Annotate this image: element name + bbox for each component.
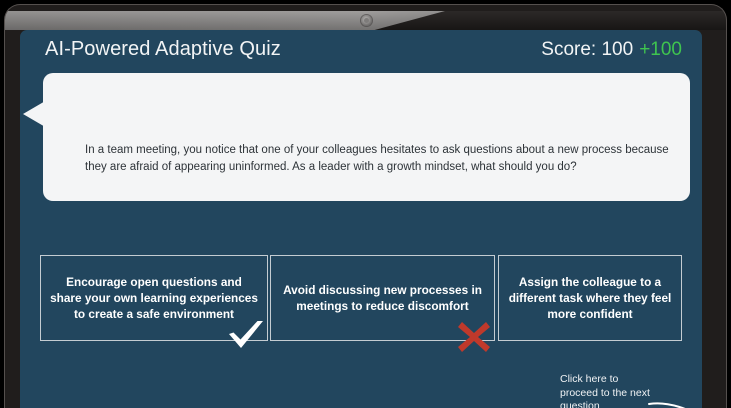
page-title: AI-Powered Adaptive Quiz — [45, 38, 281, 61]
laptop-bezel-strip — [5, 11, 445, 30]
next-question-hint[interactable]: Click here to proceed to the next questi… — [560, 373, 652, 408]
answer-option-label: Encourage open questions and share your … — [50, 274, 258, 322]
answer-option-label: Avoid discussing new processes in meetin… — [280, 282, 485, 314]
question-text: In a team meeting, you notice that one o… — [85, 142, 675, 176]
camera-lens-icon — [364, 18, 369, 23]
answer-options: Encourage open questions and share your … — [20, 255, 702, 347]
laptop-frame: AI-Powered Adaptive Quiz Score: 100+100 … — [4, 4, 727, 408]
check-icon — [226, 319, 266, 353]
speech-bubble-tail-icon — [23, 100, 47, 128]
answer-option-2[interactable]: Assign the colleague to a different task… — [498, 255, 682, 341]
question-card: In a team meeting, you notice that one o… — [43, 73, 690, 201]
cross-icon — [457, 321, 491, 353]
next-question-hint-text: Click here to proceed to the next questi… — [560, 373, 652, 408]
score-value: Score: 100 — [541, 39, 633, 60]
quiz-header: AI-Powered Adaptive Quiz Score: 100+100 — [20, 30, 702, 74]
quiz-screen: AI-Powered Adaptive Quiz Score: 100+100 … — [20, 30, 702, 408]
answer-option-label: Assign the colleague to a different task… — [508, 274, 672, 322]
score-delta-badge: +100 — [639, 39, 682, 60]
score-display: Score: 100+100 — [541, 39, 682, 61]
